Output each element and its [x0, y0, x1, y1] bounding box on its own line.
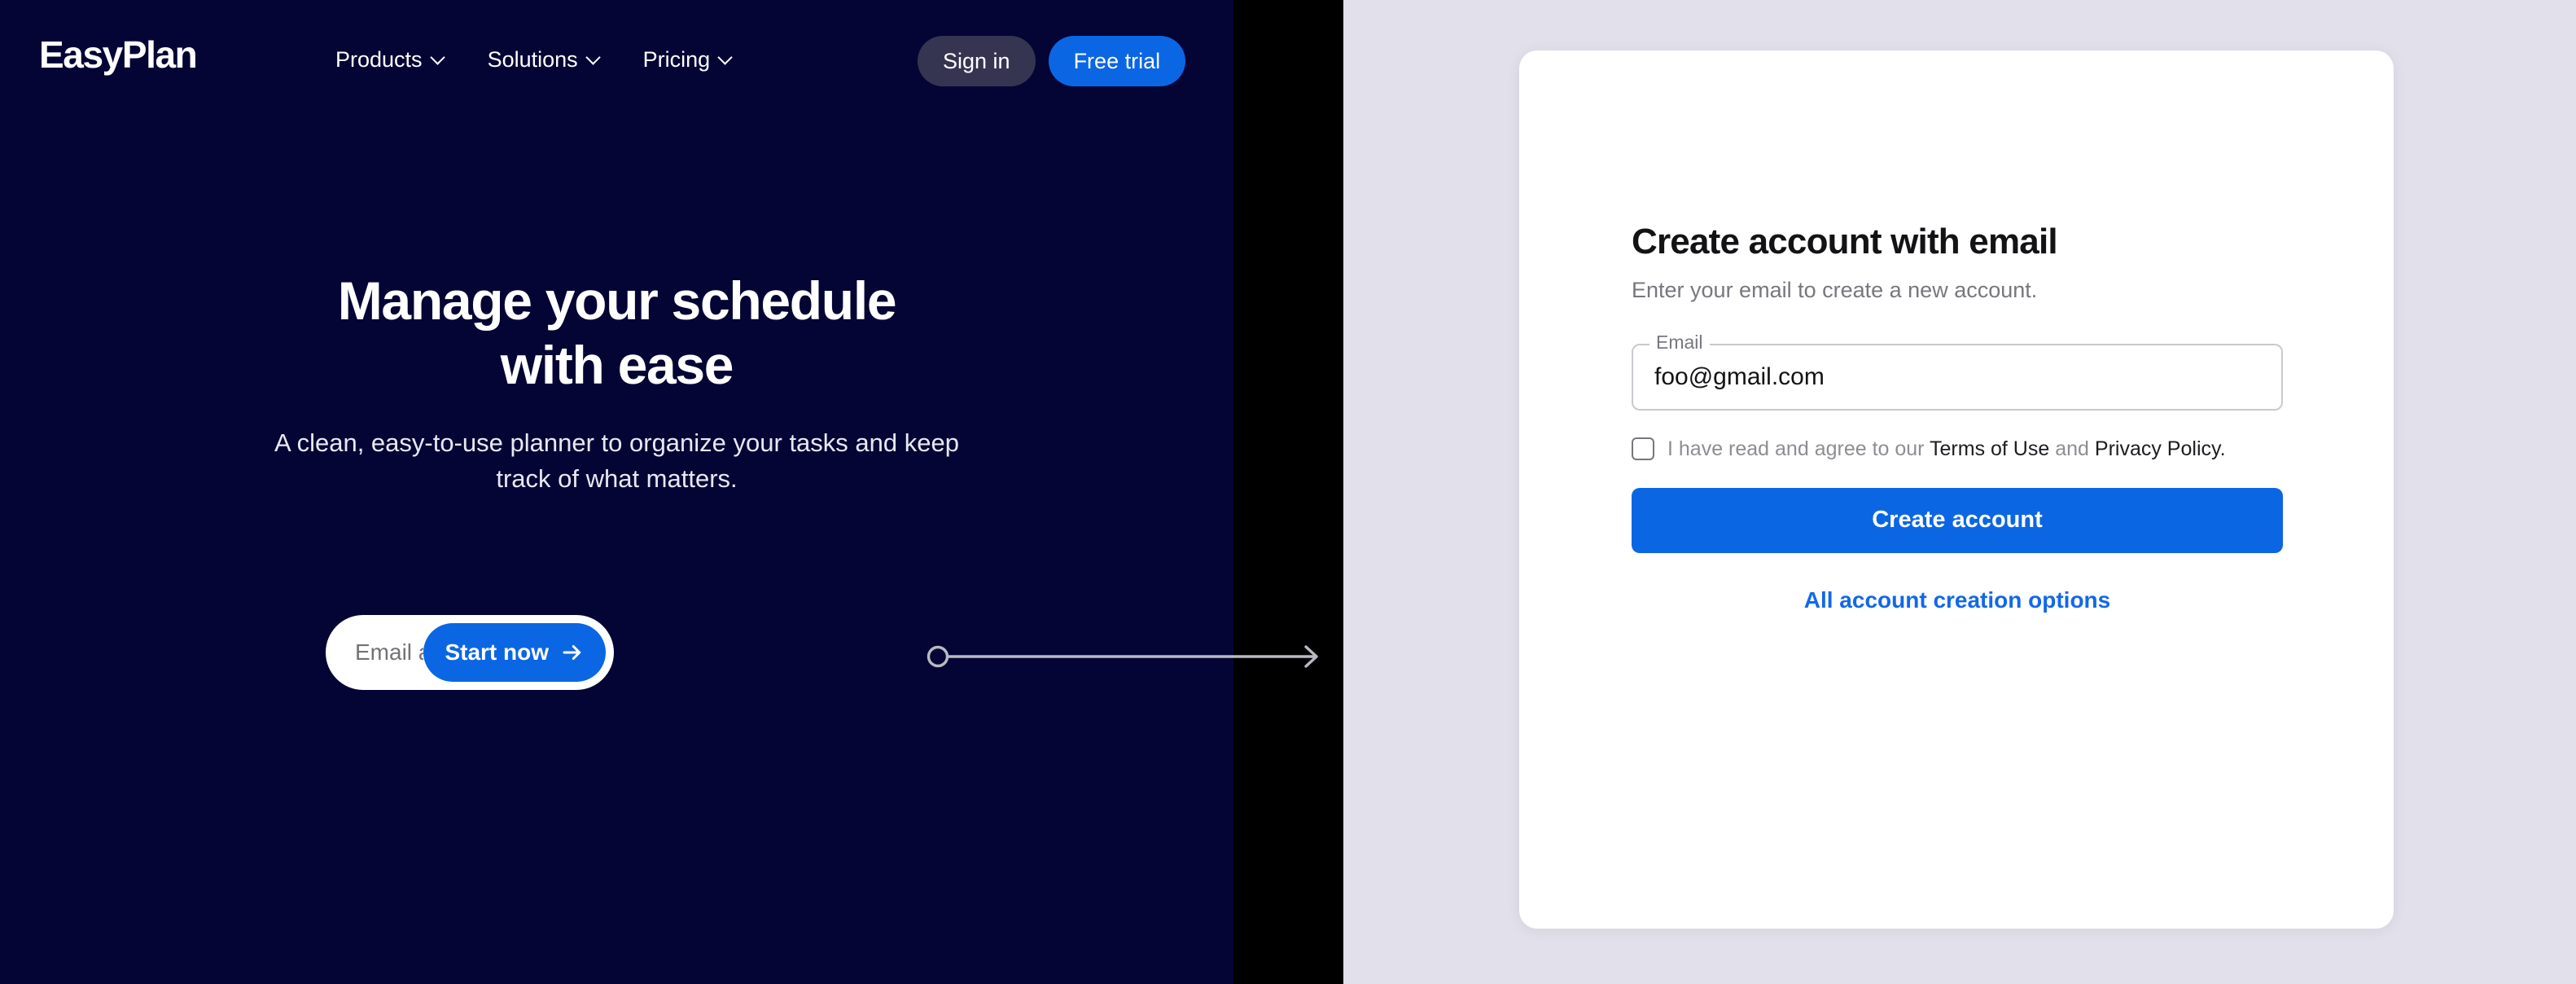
terms-agreement-row: I have read and agree to our Terms of Us… [1632, 437, 2283, 462]
create-account-card: Create account with email Enter your ema… [1519, 51, 2394, 929]
free-trial-button[interactable]: Free trial [1049, 36, 1186, 86]
nav-item-label: Pricing [643, 49, 711, 71]
email-field-wrapper: Email [1632, 344, 2283, 411]
create-account-form: Create account with email Enter your ema… [1632, 222, 2283, 613]
hero-email-input[interactable] [355, 639, 423, 666]
hero-email-capture: Start now [326, 615, 614, 690]
background-black-strip [1233, 0, 1343, 984]
email-field[interactable] [1632, 344, 2283, 411]
nav-item-label: Products [335, 49, 423, 71]
terms-of-use-link[interactable]: Terms of Use [1930, 437, 2049, 460]
create-account-button[interactable]: Create account [1632, 488, 2283, 553]
chevron-down-icon [587, 51, 601, 65]
terms-suffix: . [2220, 437, 2226, 460]
hero-subtitle-line-1: A clean, easy-to-use planner to organize… [0, 425, 1233, 461]
terms-prefix: I have read and agree to our [1667, 437, 1925, 460]
terms-text: I have read and agree to our Terms of Us… [1667, 437, 2226, 462]
hero-subtitle-line-2: track of what matters. [0, 461, 1233, 497]
sign-in-button[interactable]: Sign in [918, 36, 1036, 86]
nav-item-pricing[interactable]: Pricing [643, 49, 734, 71]
primary-nav: Products Solutions Pricing [335, 49, 733, 71]
site-header: EasyPlan Products Solutions Pricing Sign… [0, 0, 1233, 122]
hero-title-line-1: Manage your schedule [0, 269, 1233, 333]
hero-section: Manage your schedule with ease A clean, … [0, 269, 1233, 497]
page-root: EasyPlan Products Solutions Pricing Sign… [0, 0, 2576, 984]
start-now-button[interactable]: Start now [423, 623, 606, 682]
hero-subtitle: A clean, easy-to-use planner to organize… [0, 425, 1233, 497]
nav-item-products[interactable]: Products [335, 49, 445, 71]
page-title: Manage your schedule with ease [0, 269, 1233, 397]
brand-logo[interactable]: EasyPlan [39, 36, 196, 73]
chevron-down-icon [432, 51, 445, 65]
arrow-right-icon [560, 640, 585, 665]
terms-conjunction: and [2055, 437, 2089, 460]
start-now-label: Start now [445, 639, 549, 666]
chevron-down-icon [719, 51, 733, 65]
nav-item-label: Solutions [488, 49, 578, 71]
card-subtitle: Enter your email to create a new account… [1632, 276, 2283, 305]
nav-item-solutions[interactable]: Solutions [488, 49, 601, 71]
privacy-policy-link[interactable]: Privacy Policy [2095, 437, 2220, 460]
terms-checkbox[interactable] [1632, 437, 1654, 460]
all-account-creation-options-link[interactable]: All account creation options [1632, 587, 2283, 613]
card-title: Create account with email [1632, 222, 2283, 263]
hero-title-line-2: with ease [0, 333, 1233, 398]
header-actions: Sign in Free trial [918, 36, 1185, 86]
